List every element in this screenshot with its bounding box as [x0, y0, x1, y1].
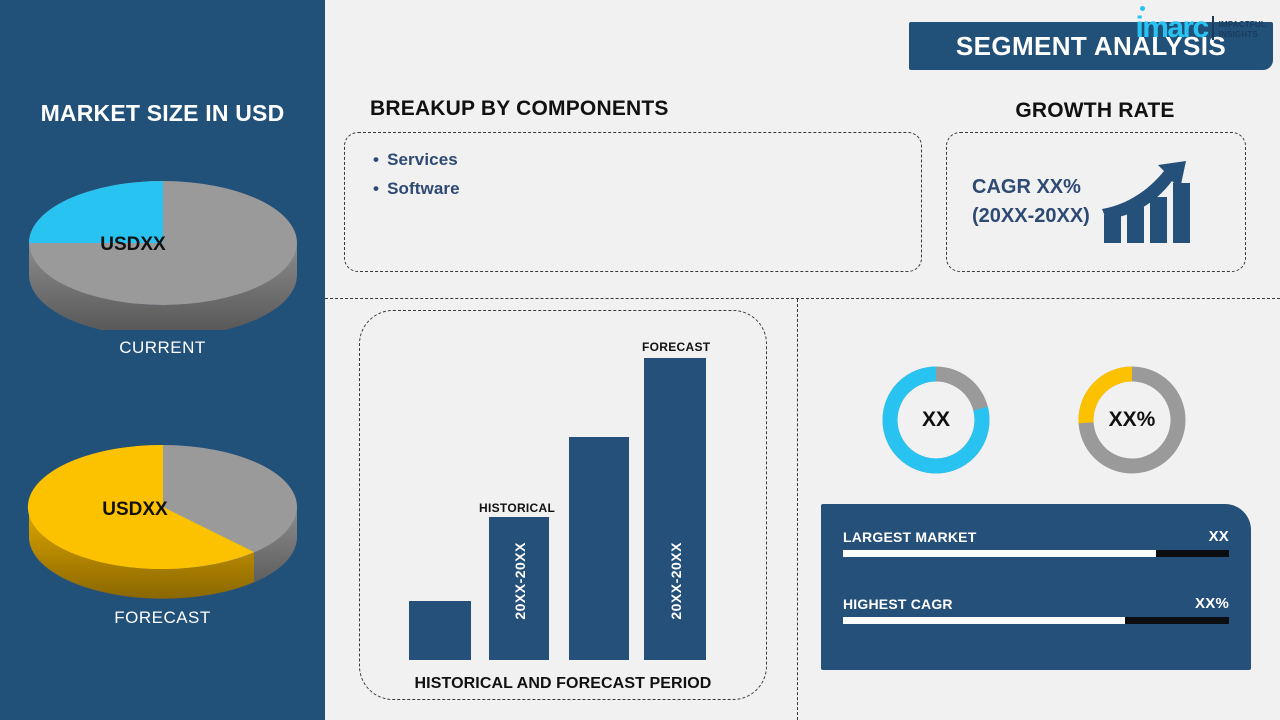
pie-current-slice-label: USDXX	[100, 234, 166, 255]
stat-row-largest-market: LARGEST MARKET XX	[843, 528, 1229, 557]
growth-arrow-chart-icon	[1100, 159, 1192, 245]
pie-chart-current: USDXX CURRENT	[0, 155, 325, 358]
bar-1	[409, 601, 471, 660]
stat-header: LARGEST MARKET XX	[843, 528, 1229, 545]
bar-chart-caption: HISTORICAL AND FORECAST PERIOD	[359, 675, 767, 693]
stat-row-highest-cagr: HIGHEST CAGR XX%	[843, 595, 1229, 624]
logo-wordmark: imarc	[1136, 14, 1208, 43]
stat-label: HIGHEST CAGR	[843, 596, 953, 612]
bar-3	[569, 437, 629, 660]
pie-chart-forecast: USDXX FORECAST	[0, 425, 325, 628]
components-box: Services Software	[344, 132, 922, 272]
donut-chart-right: XX%	[1074, 362, 1190, 478]
bar-chart: HISTORICAL 20XX-20XX FORECAST 20XX-20XX	[359, 310, 767, 700]
bar-4-period-label: 20XX-20XX	[668, 542, 684, 620]
market-size-panel: MARKET SIZE IN USD USDXX CURRENT	[0, 0, 325, 720]
stats-panel: LARGEST MARKET XX HIGHEST CAGR XX%	[821, 504, 1251, 670]
progress-track	[843, 550, 1229, 557]
growth-heading: GROWTH RATE	[940, 99, 1250, 123]
donut-chart-left: XX	[878, 362, 994, 478]
logo-dot-icon	[1140, 6, 1145, 11]
logo-wordmark-text: imarc	[1136, 11, 1208, 44]
cagr-text: CAGR XX% (20XX-20XX)	[972, 173, 1090, 231]
logo-tagline-line1: IMPACTFUL	[1219, 20, 1266, 30]
infographic-root: MARKET SIZE IN USD USDXX CURRENT	[0, 0, 1280, 720]
donut-right-value: XX%	[1074, 362, 1190, 478]
components-list: Services Software	[345, 133, 921, 203]
donut-left-value: XX	[878, 362, 994, 478]
vertical-divider	[797, 299, 798, 720]
components-heading: BREAKUP BY COMPONENTS	[370, 97, 669, 121]
pie-current-svg: USDXX	[23, 155, 303, 330]
growth-content: CAGR XX% (20XX-20XX)	[946, 132, 1246, 272]
market-size-title: MARKET SIZE IN USD	[0, 100, 325, 127]
progress-track	[843, 617, 1229, 624]
list-item: Services	[373, 145, 921, 174]
pie-forecast-svg: USDXX	[23, 425, 303, 600]
logo-tagline-line2: INSIGHTS	[1219, 30, 1266, 40]
header-band: SEGMENT ANALYSIS imarc IMPACTFUL INSIGHT…	[325, 0, 1280, 92]
pie-forecast-caption: FORECAST	[0, 608, 325, 628]
progress-fill	[843, 550, 1156, 557]
cagr-value: CAGR XX%	[972, 173, 1090, 202]
stat-header: HIGHEST CAGR XX%	[843, 595, 1229, 612]
list-item: Software	[373, 174, 921, 203]
stat-label: LARGEST MARKET	[843, 529, 976, 545]
stat-value: XX%	[1195, 595, 1229, 612]
forecast-label: FORECAST	[642, 340, 710, 354]
logo-tagline: IMPACTFUL INSIGHTS	[1219, 20, 1266, 43]
cagr-period: (20XX-20XX)	[972, 202, 1090, 231]
horizontal-divider	[325, 298, 1280, 299]
pie-forecast-slice-label: USDXX	[102, 499, 168, 520]
historical-label: HISTORICAL	[479, 501, 555, 515]
pie-current-caption: CURRENT	[0, 338, 325, 358]
logo-divider-icon	[1212, 16, 1214, 40]
bar-2-period-label: 20XX-20XX	[512, 542, 528, 620]
stat-value: XX	[1209, 528, 1229, 545]
progress-fill	[843, 617, 1125, 624]
imarc-logo: imarc IMPACTFUL INSIGHTS	[1136, 14, 1266, 43]
